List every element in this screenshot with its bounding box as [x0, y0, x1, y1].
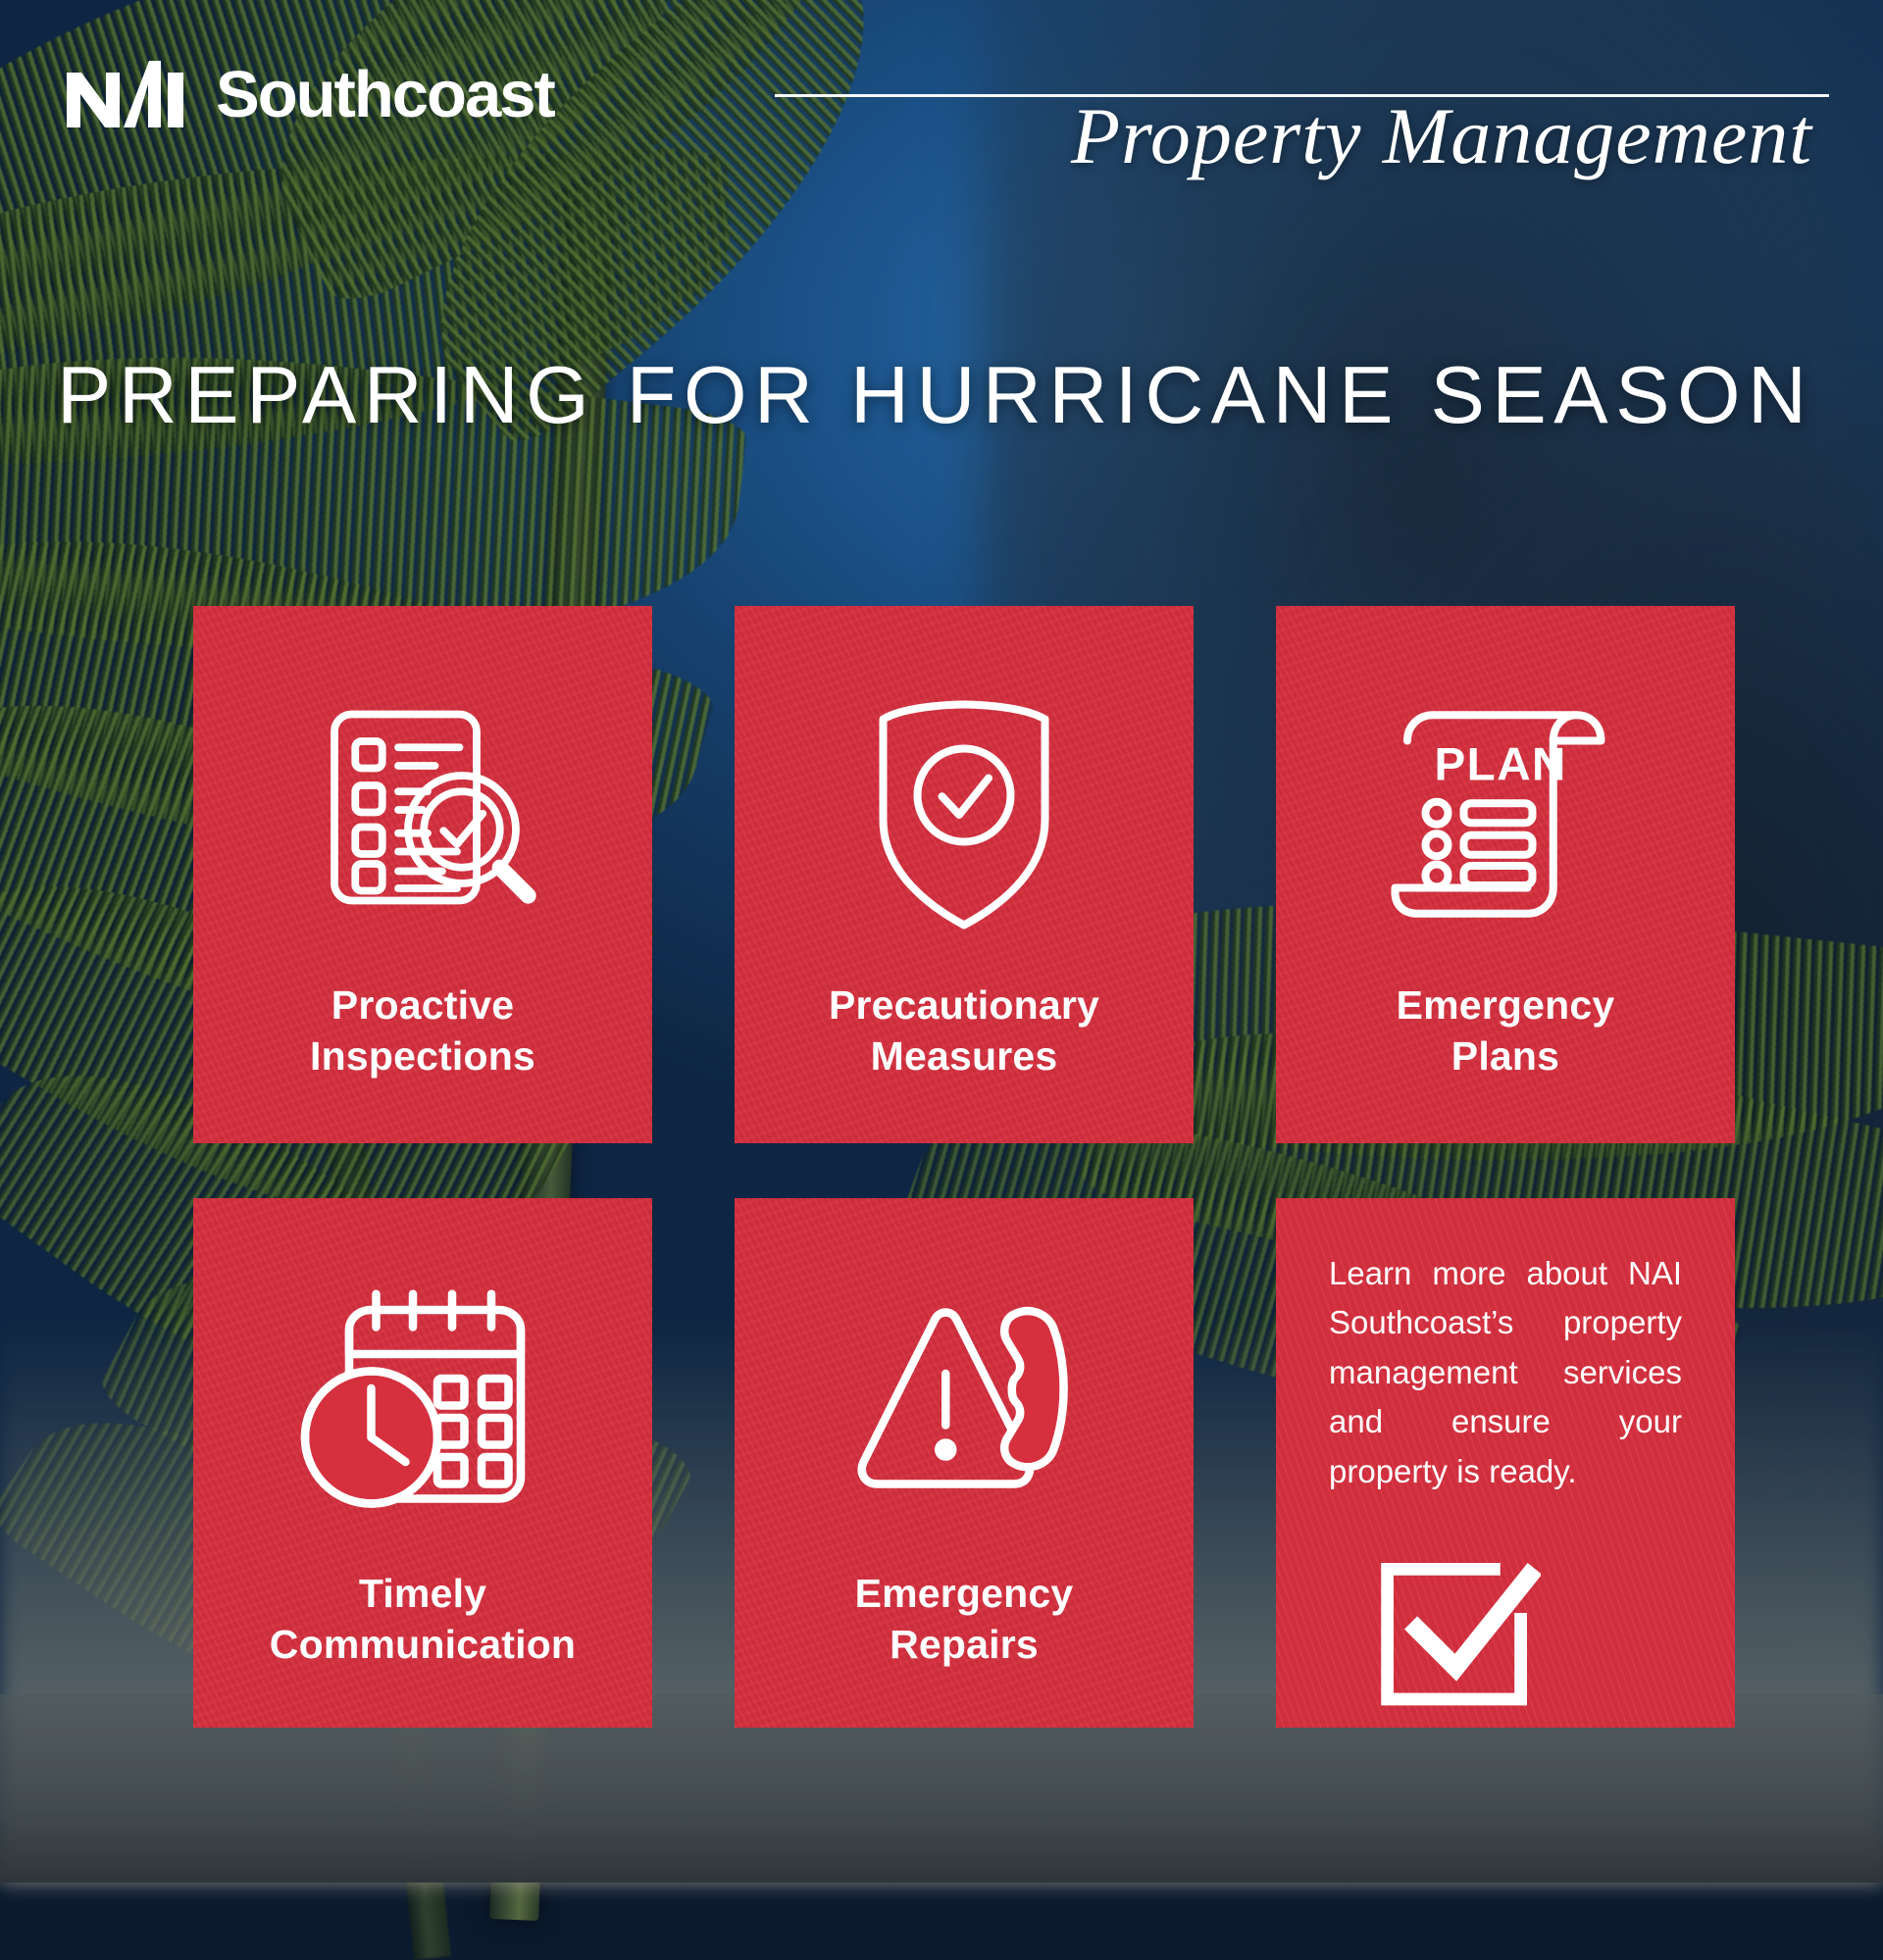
feature-card-emergency-plans[interactable]: PLAN Emergency Plans: [1276, 606, 1735, 1143]
cta-card[interactable]: Learn more about NAI Southcoast’s proper…: [1276, 1198, 1735, 1728]
card-label-line1: Precautionary: [829, 982, 1099, 1028]
feature-card-grid: Proactive Inspections Precautionary Meas…: [193, 606, 1736, 1728]
feature-card-label: Proactive Inspections: [310, 980, 535, 1082]
card-label-line2: Measures: [871, 1033, 1058, 1079]
brand-logo[interactable]: Southcoast: [67, 61, 554, 127]
feature-card-precautionary-measures[interactable]: Precautionary Measures: [735, 606, 1194, 1143]
feature-card-proactive-inspections[interactable]: Proactive Inspections: [193, 606, 652, 1143]
feature-card-label: Timely Communication: [270, 1568, 576, 1671]
division-title: Property Management: [1071, 90, 1812, 182]
card-label-line2: Plans: [1451, 1033, 1559, 1079]
plan-icon-text: PLAN: [1435, 739, 1567, 791]
card-label-line1: Emergency: [1397, 982, 1615, 1028]
page-title: PREPARING FOR HURRICANE SEASON: [57, 348, 1832, 442]
nai-mountain-mark: [67, 61, 214, 127]
checkbox-check-icon: [1329, 1549, 1541, 1721]
warning-phone-icon: [841, 1256, 1087, 1550]
feature-card-emergency-repairs[interactable]: Emergency Repairs: [735, 1198, 1194, 1728]
feature-card-label: Emergency Plans: [1397, 980, 1615, 1082]
card-label-line2: Repairs: [890, 1622, 1039, 1667]
page-header: Southcoast Property Management: [0, 0, 1883, 235]
card-label-line2: Inspections: [310, 1033, 535, 1079]
feature-card-label: Precautionary Measures: [829, 980, 1099, 1082]
card-label-line1: Timely: [359, 1571, 486, 1616]
brand-logo-text: Southcoast: [216, 62, 554, 127]
card-label-line2: Communication: [270, 1622, 576, 1667]
feature-card-timely-communication[interactable]: Timely Communication: [193, 1198, 652, 1728]
cta-body-text: Learn more about NAI Southcoast’s proper…: [1329, 1249, 1682, 1496]
plan-scroll-icon: PLAN: [1383, 668, 1628, 962]
calendar-clock-icon: [295, 1256, 550, 1550]
card-label-line1: Emergency: [855, 1571, 1074, 1616]
feature-card-label: Emergency Repairs: [855, 1568, 1074, 1671]
card-label-line1: Proactive: [331, 982, 514, 1028]
shield-check-icon: [846, 668, 1082, 962]
clipboard-checklist-magnifier-icon: [300, 668, 545, 962]
